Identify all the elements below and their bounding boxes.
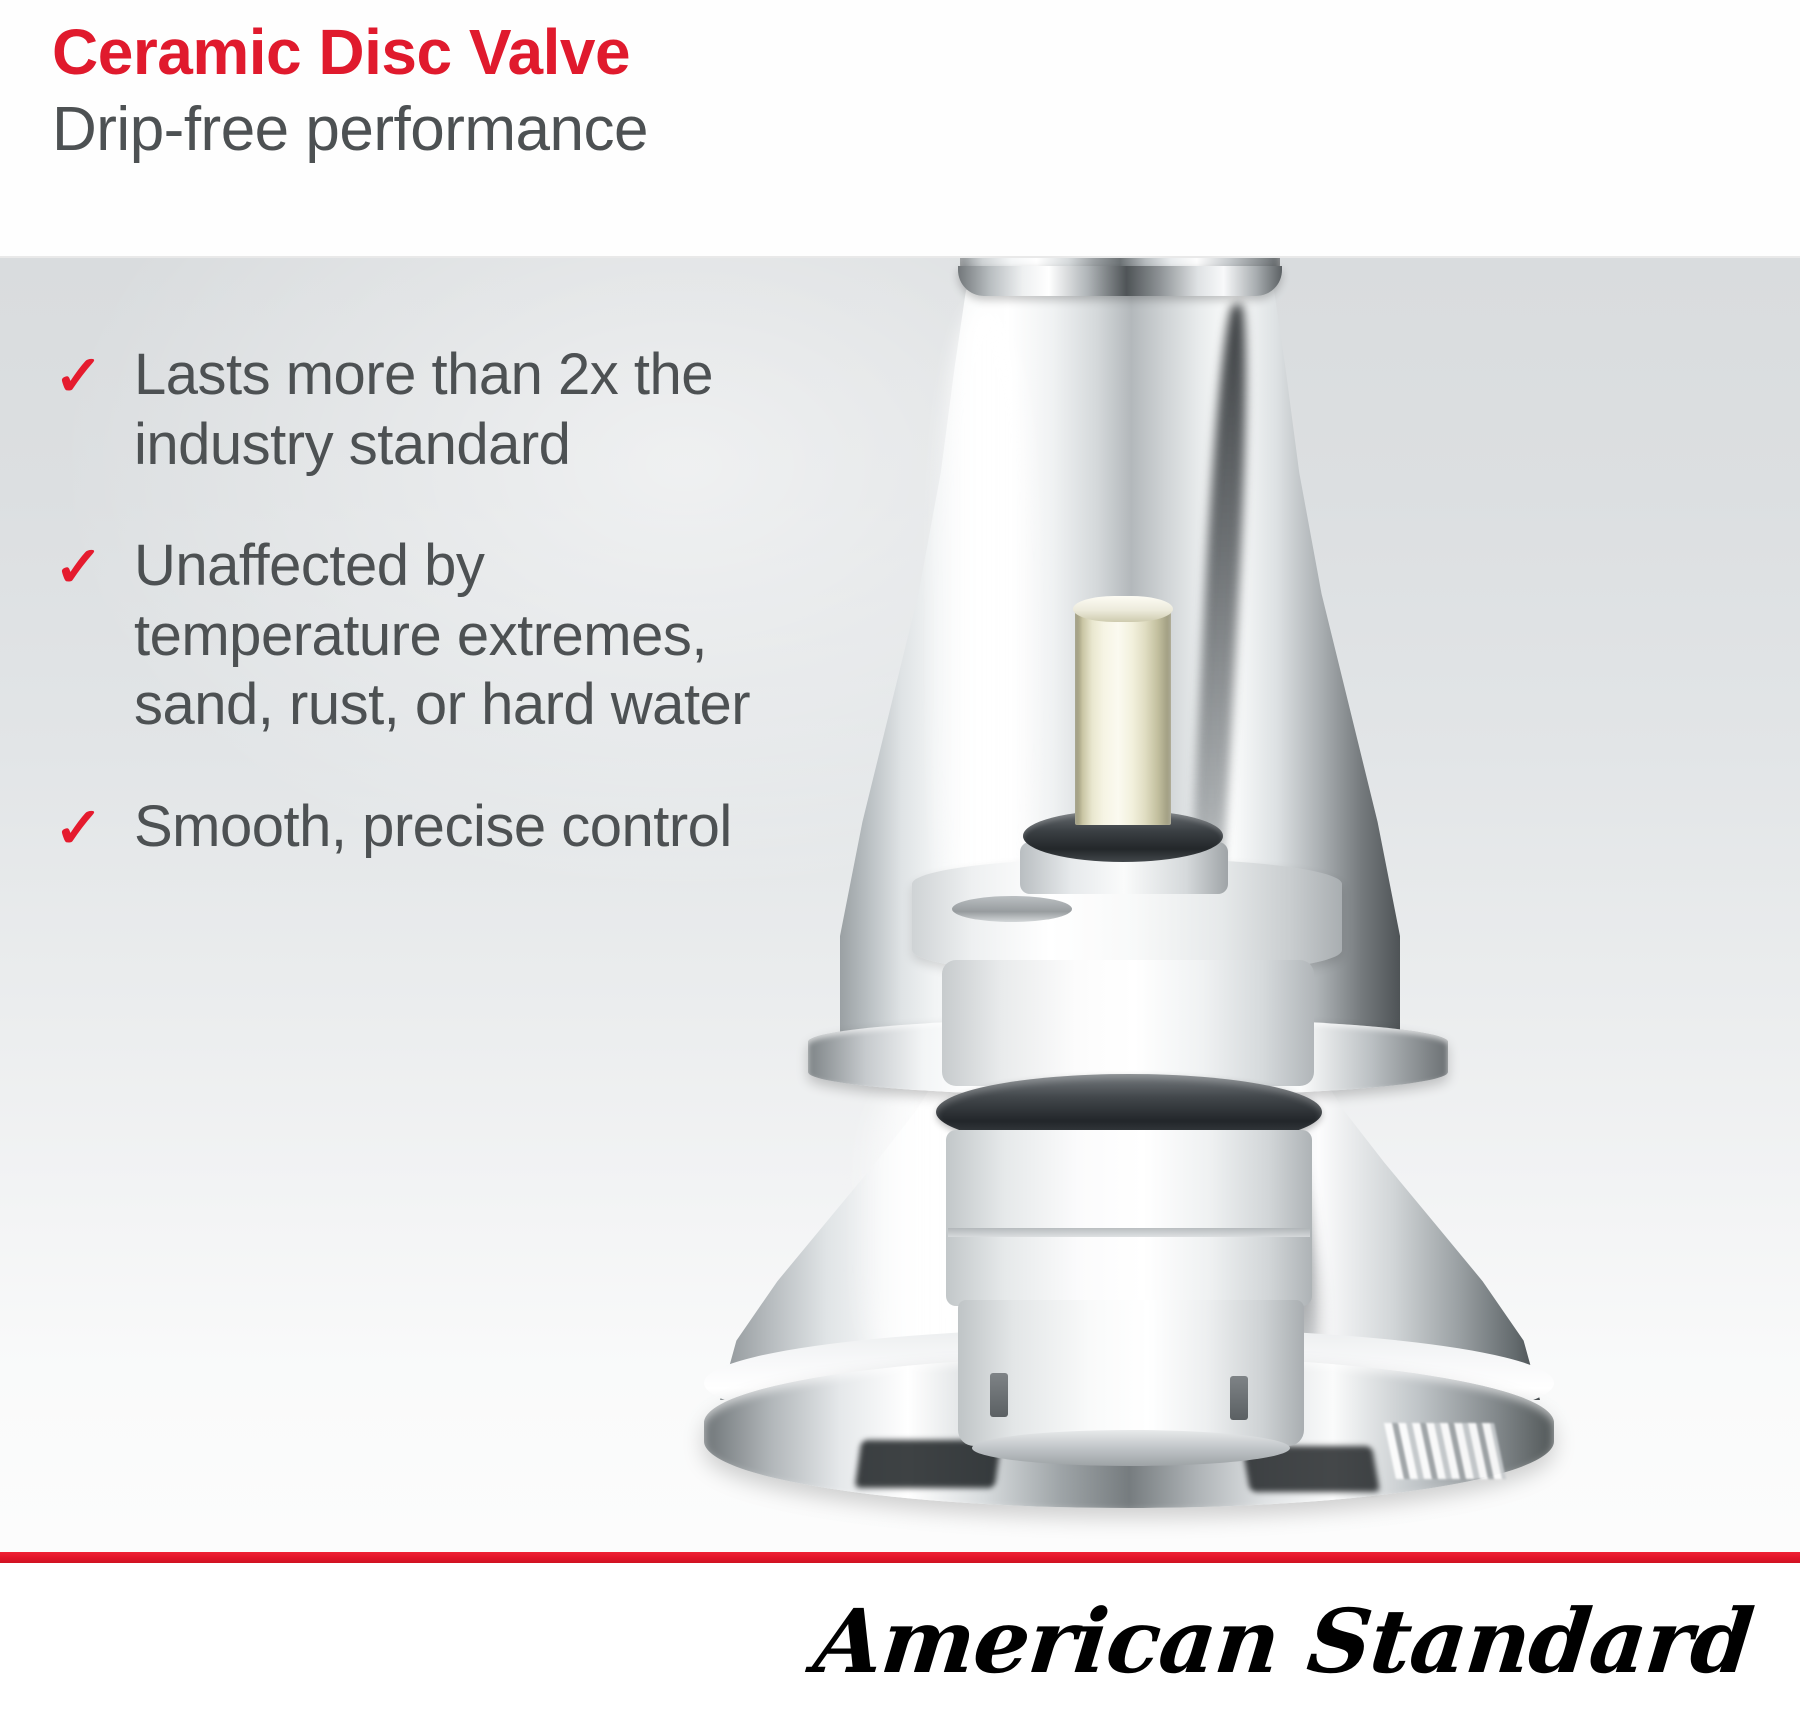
list-item: ✓ Smooth, precise control	[56, 792, 756, 862]
cartridge-flange-ports	[952, 896, 1072, 922]
page-subtitle: Drip-free performance	[52, 93, 1800, 166]
feature-text: Smooth, precise control	[134, 792, 756, 862]
infographic-page: Ceramic Disc Valve Drip-free performance…	[0, 0, 1800, 1721]
list-item: ✓ Lasts more than 2x the industry standa…	[56, 340, 756, 479]
check-icon: ✓	[54, 531, 136, 595]
chrome-collar-lip	[958, 266, 1282, 296]
american-standard-logo: American Standard	[809, 1589, 1757, 1693]
check-icon: ✓	[54, 340, 136, 404]
check-icon: ✓	[54, 792, 136, 856]
cartridge-groove	[948, 1228, 1310, 1237]
cartridge-foot	[972, 1430, 1290, 1466]
cartridge-lower-body	[958, 1300, 1304, 1446]
feature-list: ✓ Lasts more than 2x the industry standa…	[56, 340, 756, 914]
list-item: ✓ Unaffected by temperature extremes, sa…	[56, 531, 756, 740]
brass-valve-stem	[1075, 603, 1171, 825]
cartridge-slot-right	[1230, 1376, 1248, 1420]
feature-text: Unaffected by temperature extremes, sand…	[134, 531, 756, 740]
red-divider-rule	[0, 1552, 1800, 1563]
brass-stem-cap	[1073, 596, 1173, 622]
cartridge-upper-body	[942, 960, 1314, 1086]
faucet-valve-illustration	[690, 258, 1630, 1552]
cartridge-slot-left	[990, 1373, 1008, 1417]
product-photo-stage: ✓ Lasts more than 2x the industry standa…	[0, 258, 1800, 1552]
base-highlight-stripe	[1384, 1423, 1506, 1479]
feature-text: Lasts more than 2x the industry standard	[134, 340, 756, 479]
page-title: Ceramic Disc Valve	[52, 18, 1800, 87]
footer-band: American Standard	[0, 1563, 1800, 1721]
header-band: Ceramic Disc Valve Drip-free performance	[0, 0, 1800, 258]
cartridge-mid-body	[946, 1130, 1312, 1306]
